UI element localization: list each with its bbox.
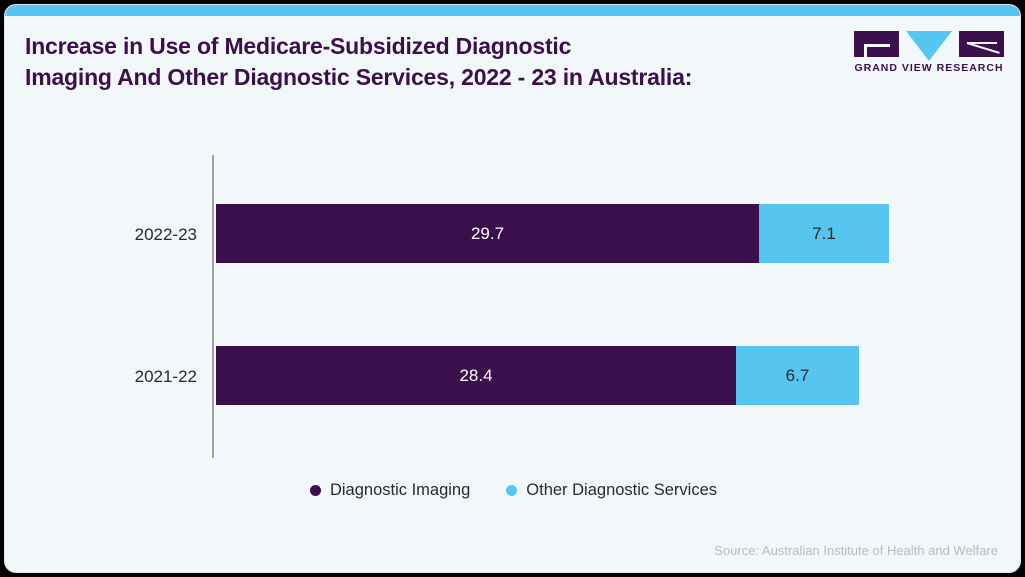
- bar-segment-diagnostic-imaging: 28.4: [216, 346, 736, 405]
- legend-dot-icon: [310, 485, 321, 496]
- legend-dot-icon: [506, 485, 517, 496]
- y-axis-line: [212, 155, 214, 458]
- y-axis-tick-label: 2021-22: [67, 367, 197, 387]
- chart-legend: Diagnostic Imaging Other Diagnostic Serv…: [5, 481, 1021, 500]
- legend-label: Diagnostic Imaging: [330, 481, 470, 500]
- bar-segment-other-diagnostic-services: 6.7: [736, 346, 859, 405]
- y-axis-tick-label: 2022-23: [67, 225, 197, 245]
- chart-card: Increase in Use of Medicare-Subsidized D…: [4, 4, 1021, 573]
- legend-item-diagnostic-imaging[interactable]: Diagnostic Imaging: [310, 481, 470, 500]
- bar-segment-diagnostic-imaging: 29.7: [216, 204, 759, 263]
- bar-segment-other-diagnostic-services: 7.1: [759, 204, 889, 263]
- source-note: Source: Australian Institute of Health a…: [714, 543, 998, 558]
- legend-label: Other Diagnostic Services: [526, 481, 717, 500]
- legend-item-other-diagnostic-services[interactable]: Other Diagnostic Services: [506, 481, 717, 500]
